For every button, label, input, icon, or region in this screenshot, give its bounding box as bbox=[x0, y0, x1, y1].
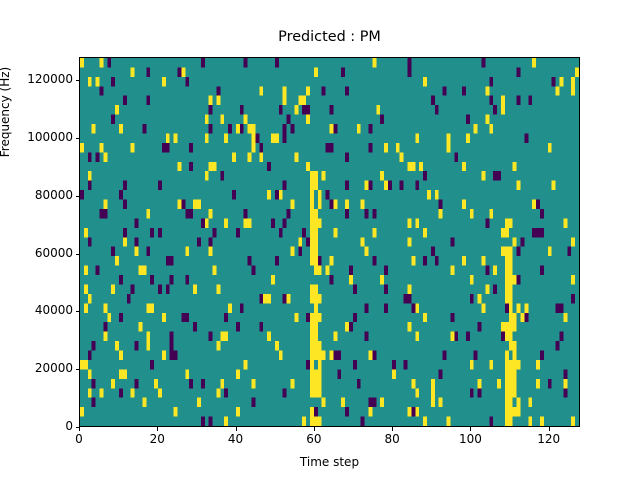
heatmap-plot-area[interactable] bbox=[79, 57, 580, 427]
x-tick-mark bbox=[236, 427, 237, 431]
x-tick-mark bbox=[157, 427, 158, 431]
y-tick-label: 100000 bbox=[0, 130, 73, 144]
y-tick-label: 60000 bbox=[0, 246, 73, 260]
x-tick-mark bbox=[392, 427, 393, 431]
x-tick-label: 80 bbox=[362, 432, 422, 446]
y-tick-label: 40000 bbox=[0, 303, 73, 317]
x-tick-label: 100 bbox=[440, 432, 500, 446]
x-tick-mark bbox=[314, 427, 315, 431]
y-tick-label: 80000 bbox=[0, 188, 73, 202]
y-tick-label: 120000 bbox=[0, 72, 73, 86]
y-tick-label: 0 bbox=[0, 419, 73, 433]
x-tick-label: 120 bbox=[519, 432, 579, 446]
x-tick-label: 0 bbox=[49, 432, 109, 446]
x-axis-label: Time step bbox=[79, 455, 580, 469]
x-tick-mark bbox=[549, 427, 550, 431]
x-tick-label: 40 bbox=[206, 432, 266, 446]
x-tick-label: 60 bbox=[284, 432, 344, 446]
x-tick-mark bbox=[470, 427, 471, 431]
x-tick-label: 20 bbox=[127, 432, 187, 446]
heatmap-image bbox=[80, 58, 579, 426]
y-tick-label: 20000 bbox=[0, 361, 73, 375]
matplotlib-figure: Predicted : PM Frequency (Hz) 0200004000… bbox=[0, 0, 640, 480]
x-tick-mark bbox=[79, 427, 80, 431]
y-axis-label: Frequency (Hz) bbox=[0, 0, 12, 242]
page-title: Predicted : PM bbox=[79, 29, 580, 46]
